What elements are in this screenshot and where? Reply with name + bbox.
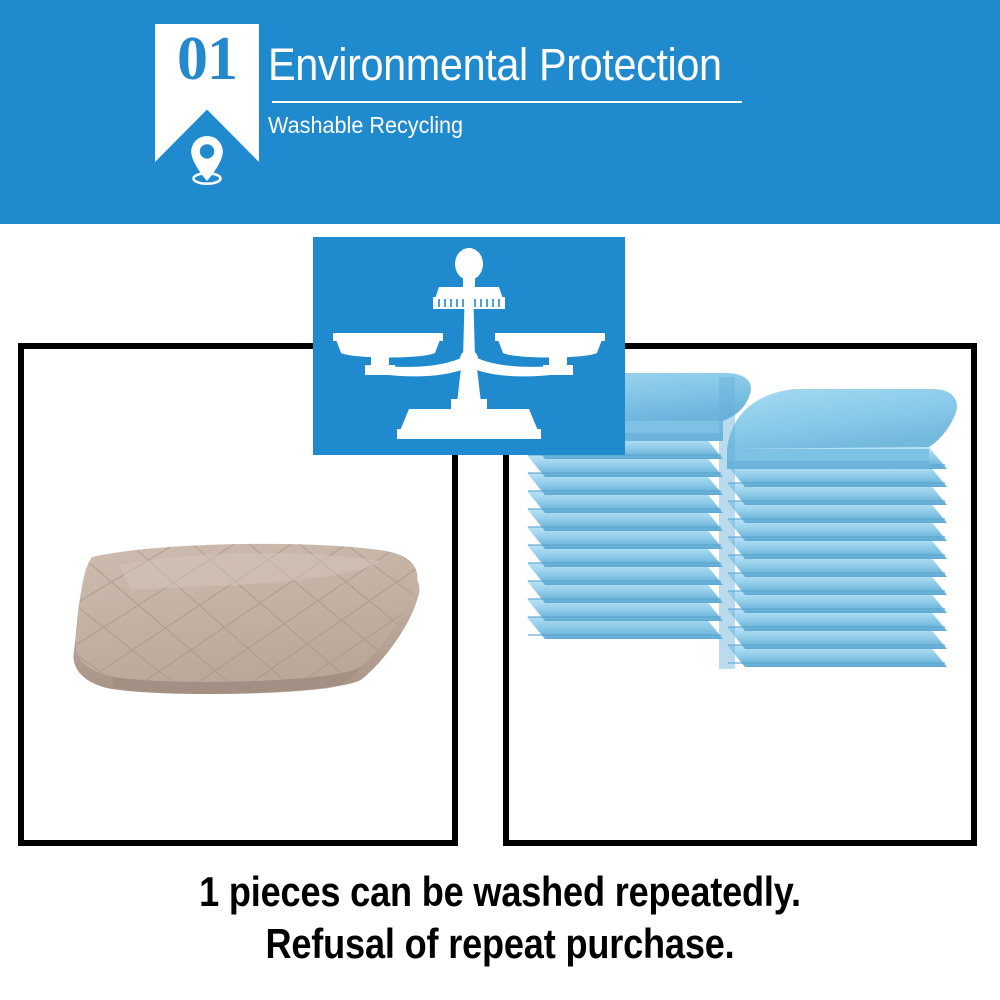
- location-pin-icon: [186, 134, 228, 186]
- title-underline: [272, 101, 742, 103]
- caption-line-2: Refusal of repeat purchase.: [70, 918, 930, 970]
- page-title: Environmental Protection: [268, 41, 722, 89]
- center-icon-tile: [313, 237, 625, 455]
- step-number: 01: [155, 28, 259, 90]
- step-number-ribbon: 01: [155, 0, 259, 162]
- page-subtitle: Washable Recycling: [268, 112, 463, 139]
- caption-block: 1 pieces can be washed repeatedly. Refus…: [0, 866, 1000, 970]
- caption-line-1: 1 pieces can be washed repeatedly.: [70, 866, 930, 918]
- beige-quilted-pad-image: [60, 535, 430, 703]
- balance-scale-icon: [313, 237, 625, 455]
- infographic-page: 01 Environmental Protection Washable Rec…: [0, 0, 1000, 1000]
- header-band: [0, 0, 1000, 224]
